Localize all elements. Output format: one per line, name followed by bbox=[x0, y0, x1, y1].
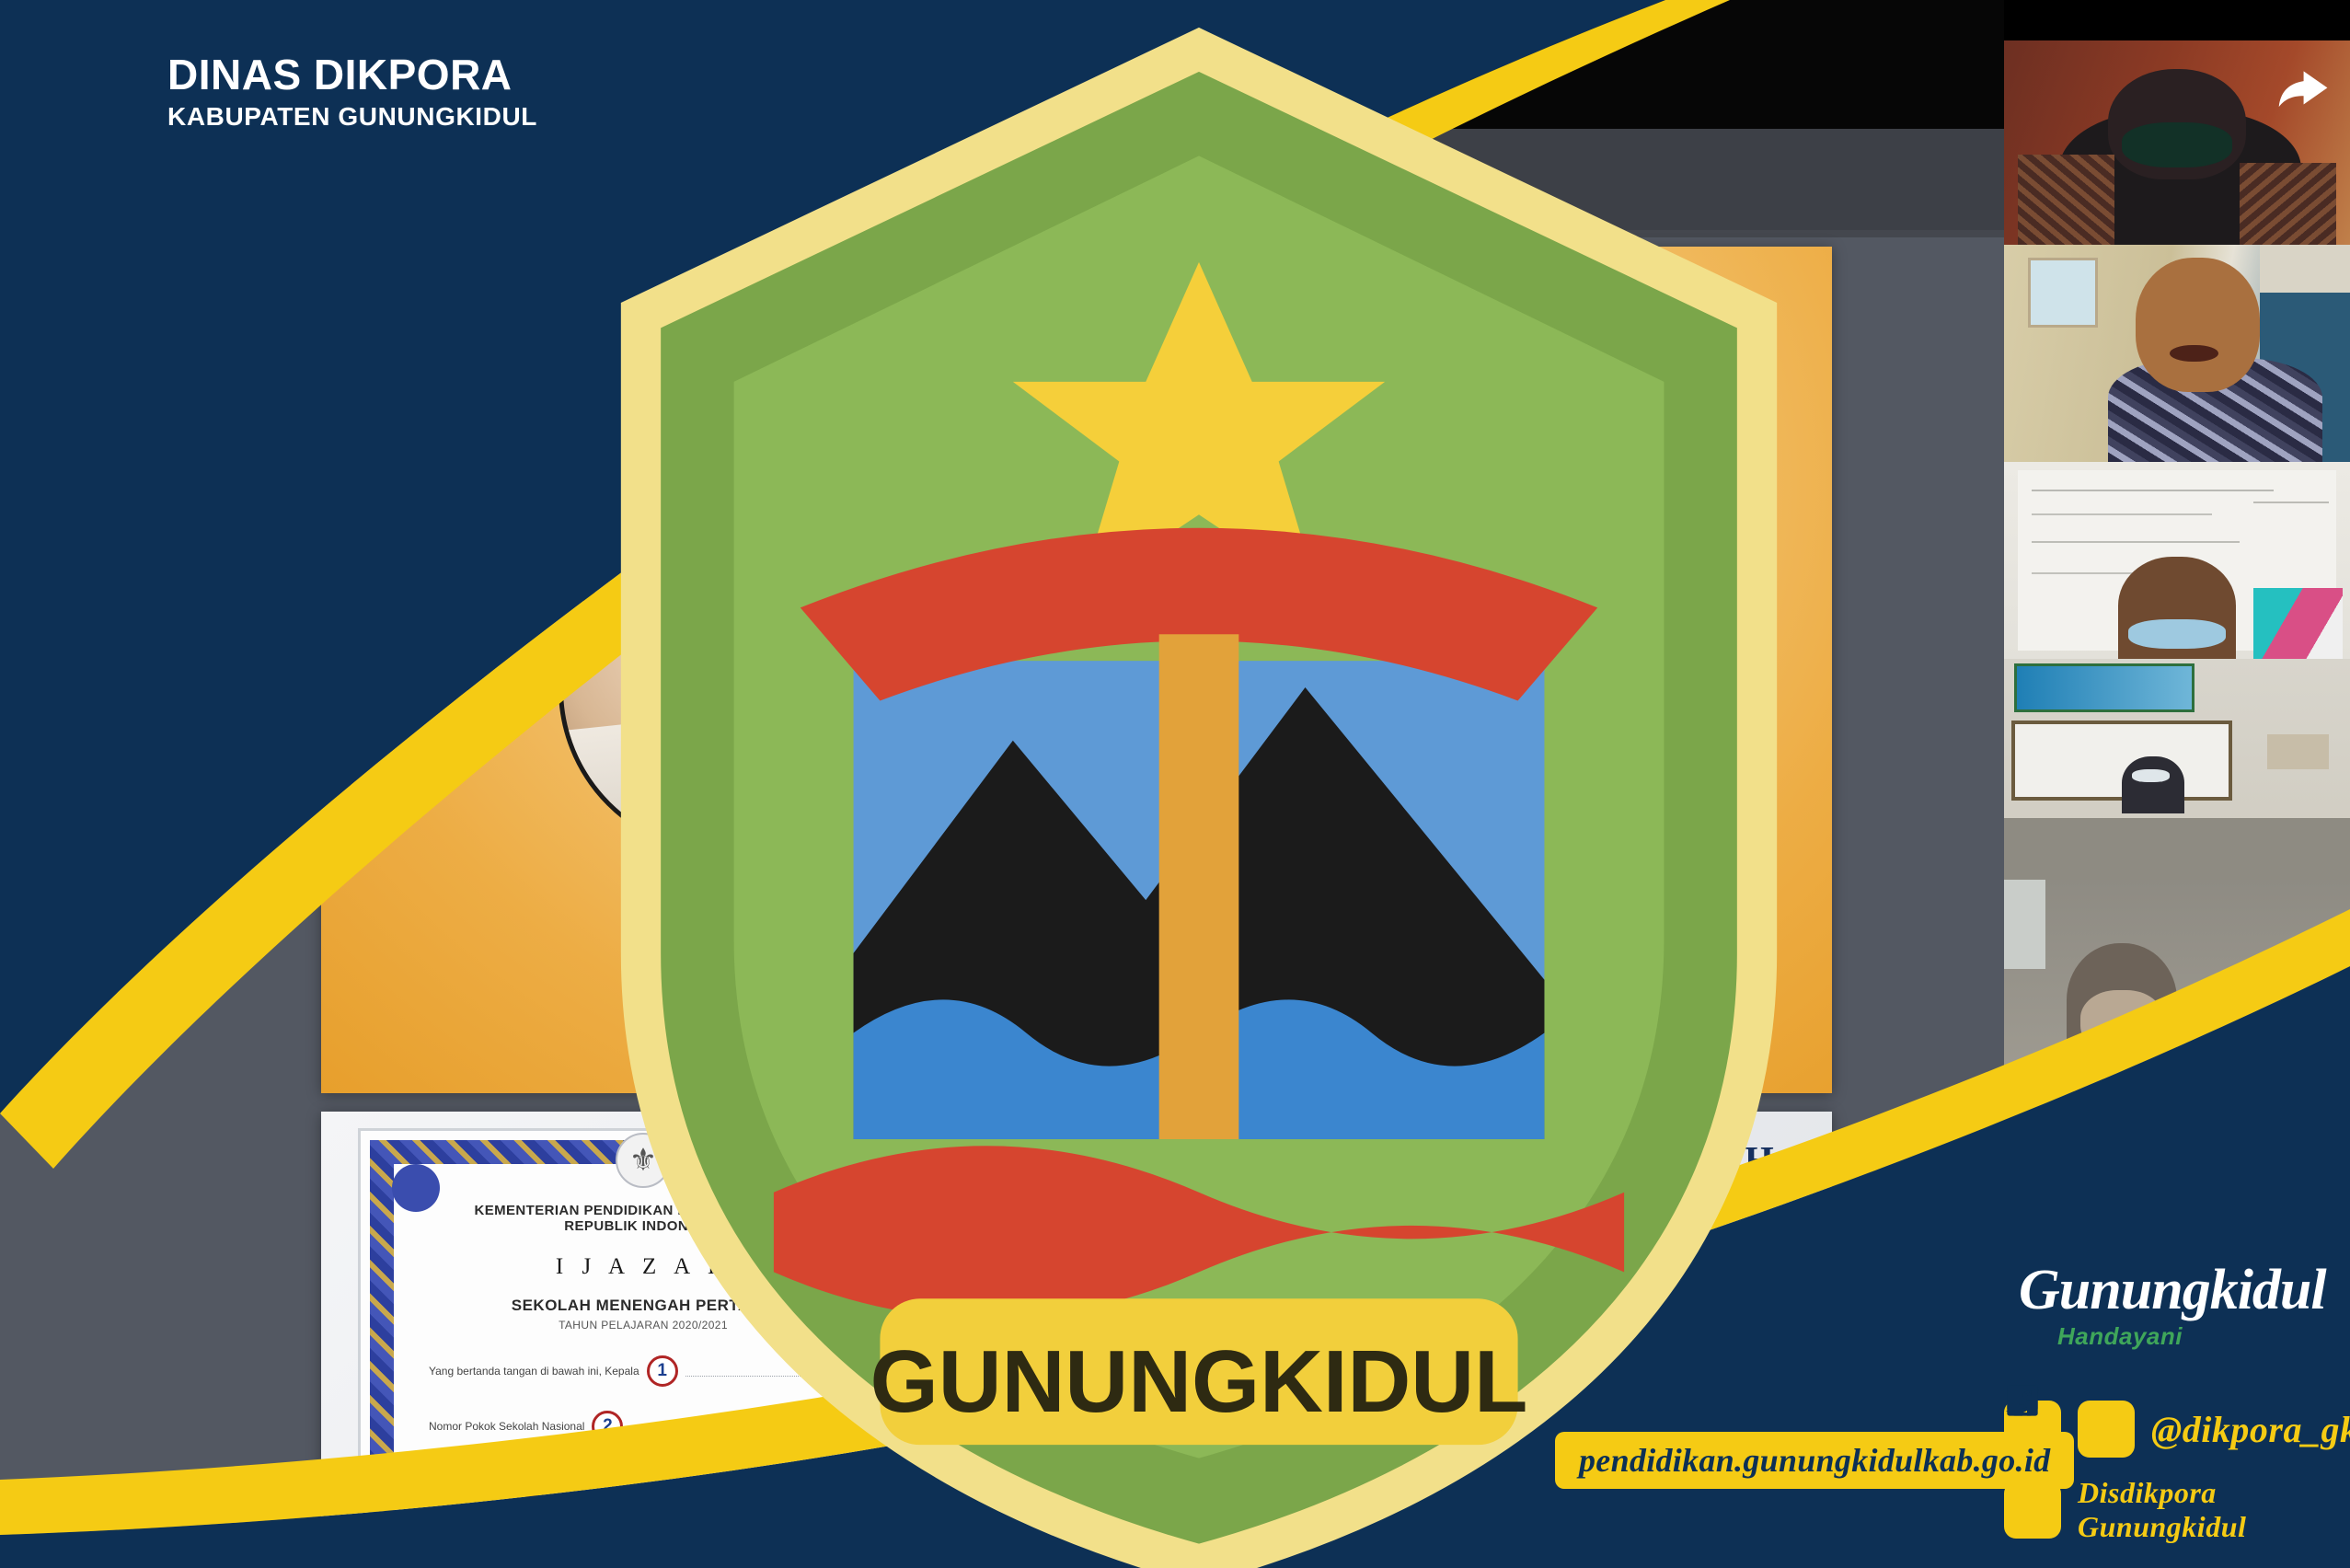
text-cursor bbox=[1692, 960, 1695, 1002]
fit-to-page-icon[interactable] bbox=[1013, 164, 1065, 212]
slide-title: PETUNJUK KHUSUS PENULISAN BLANGKO IJAZAH… bbox=[855, 578, 1793, 890]
toolbar-divider-1 bbox=[741, 170, 743, 205]
cert-field-label: Yang bertanda tangan di bawah ini, Kepal… bbox=[429, 1365, 639, 1378]
share-top-letterbox bbox=[0, 0, 2004, 136]
org-line-2: DIREKTORAT SEKOLAH MENENGAH PERTAMA bbox=[511, 320, 1203, 357]
pdf-page-13[interactable]: ⚜ KEMENTERIAN PENDIDIKAN DAN KEBUDAYAAN … bbox=[321, 1112, 1832, 1568]
cert-title: I J A Z A H bbox=[429, 1254, 858, 1280]
cert-field-row: Kabupaten/Kota 3 bbox=[429, 1466, 858, 1497]
screen-share-region: 12 / 55 − 100% + bbox=[0, 0, 2004, 1568]
cert-field-row: Provinsi 4 bbox=[429, 1521, 858, 1552]
rotate-icon[interactable] bbox=[1065, 164, 1116, 212]
participant-tile-5[interactable] bbox=[2004, 880, 2350, 1091]
participant-tile-4[interactable] bbox=[2004, 659, 2350, 880]
leader-arrow-icon bbox=[960, 1317, 1009, 1320]
screenshot-root: 12 / 55 − 100% + bbox=[0, 0, 2350, 1568]
tut-wuri-handayani-logo: 🕊 bbox=[378, 272, 487, 381]
org-website: ditsmp.kemdikbud.go.id bbox=[511, 362, 1203, 396]
cert-field-label: Provinsi bbox=[429, 1530, 468, 1543]
total-pages-label: 55 bbox=[688, 174, 717, 202]
slide-title-line-1: PETUNJUK KHUSUS bbox=[855, 578, 1793, 652]
slide-title-line-4: KURIKULUM 2006 bbox=[855, 811, 1793, 891]
slide-org-header: 🕊 KEMENTERIAN PENDIDIKAN DAN KEBUDAYAAN … bbox=[378, 272, 1203, 396]
slide2-list-item: 2 Nomor Pokok Sekolah Nasional (NPSN) bbox=[960, 1416, 1795, 1460]
zoom-in-button[interactable]: + bbox=[916, 164, 963, 212]
page-separator: / bbox=[673, 174, 680, 202]
slide-title-line-3: SEKOLAH MENENGAH PERTAMA bbox=[855, 727, 1793, 801]
cert-field-label: Kabupaten/Kota bbox=[429, 1475, 508, 1488]
page-number-input[interactable]: 12 bbox=[607, 170, 662, 206]
cert-field-label: Nomor Pokok Sekolah Nasional bbox=[429, 1420, 584, 1433]
ijazah-certificate-image: ⚜ KEMENTERIAN PENDIDIKAN DAN KEBUDAYAAN … bbox=[358, 1128, 928, 1568]
pdf-toolbar-shadow bbox=[0, 230, 2004, 237]
cert-header-2: REPUBLIK INDONESIA bbox=[429, 1218, 858, 1234]
item-number-badge: 3 bbox=[1026, 1483, 1066, 1524]
video-letterbox-bottom bbox=[2004, 1312, 2350, 1568]
participant-video-column bbox=[2004, 0, 2350, 1568]
garuda-emblem-icon: ⚜ bbox=[616, 1133, 671, 1188]
toolbar-divider-2 bbox=[987, 170, 989, 205]
item-text: Nama sekolah bersangkutan yang menerbitk… bbox=[1083, 1304, 1795, 1391]
item-text: Nomor Pokok Sekolah Nasional (NPSN) bbox=[1083, 1416, 1633, 1460]
cert-field-number: 4 bbox=[476, 1521, 507, 1552]
item-text: Nama nomenklatur kabupaten/kota*) (coret… bbox=[1083, 1483, 1795, 1568]
org-line-1: KEMENTERIAN PENDIDIKAN DAN KEBUDAYAAN bbox=[511, 283, 1203, 320]
cert-year: TAHUN PELAJARAN 2020/2021 bbox=[429, 1319, 858, 1332]
leader-arrow-icon bbox=[960, 1429, 1009, 1432]
participant-tile-3[interactable] bbox=[2004, 462, 2350, 659]
item-number-badge: 2 bbox=[1026, 1416, 1066, 1457]
leader-arrow-icon bbox=[960, 1496, 1009, 1499]
share-forward-arrow-icon[interactable] bbox=[2273, 66, 2330, 114]
item-number-badge: 1 bbox=[1026, 1304, 1066, 1344]
slide2-list-item: 1 Nama sekolah bersangkutan yang menerbi… bbox=[960, 1304, 1795, 1391]
video-letterbox-top bbox=[2004, 0, 2350, 40]
slide2-list-item: 3 Nama nomenklatur kabupaten/kota*) (cor… bbox=[960, 1483, 1795, 1568]
cert-level: SEKOLAH MENENGAH PERTAMA bbox=[429, 1297, 858, 1315]
cert-field-number: 3 bbox=[515, 1466, 547, 1497]
participant-tile-2[interactable] bbox=[2004, 245, 2350, 462]
pdf-toolbar: 12 / 55 − 100% + bbox=[607, 161, 1116, 214]
zoom-level-input[interactable]: 100% bbox=[820, 169, 910, 207]
zoom-out-button[interactable]: − bbox=[766, 164, 814, 212]
pdf-page-12[interactable]: 🕊 KEMENTERIAN PENDIDIKAN DAN KEBUDAYAAN … bbox=[321, 247, 1832, 1093]
cert-field-row: Yang bertanda tangan di bawah ini, Kepal… bbox=[429, 1355, 858, 1387]
slide2-title-line-1: TATA CARA PENGISIAN BLANGKO IJAZAH SMP bbox=[960, 1136, 1795, 1232]
hand-writing-photo bbox=[559, 523, 890, 854]
slide2-content: TATA CARA PENGISIAN BLANGKO IJAZAH SMP K… bbox=[928, 1112, 1832, 1568]
participant-tile-6[interactable] bbox=[2004, 1091, 2350, 1312]
pdf-pages: 🕊 KEMENTERIAN PENDIDIKAN DAN KEBUDAYAAN … bbox=[321, 247, 1832, 1568]
cert-field-number: 1 bbox=[647, 1355, 678, 1387]
slide-title-line-2: PENULISAN BLANGKO IJAZAH bbox=[855, 652, 1793, 727]
cert-header-1: KEMENTERIAN PENDIDIKAN DAN KEBUDAYAAN bbox=[429, 1203, 858, 1218]
slide2-title-line-2: KURIKULUM 2006 (HALAMAN DEPAN) bbox=[960, 1232, 1795, 1280]
cert-field-row: Nomor Pokok Sekolah Nasional 2 bbox=[429, 1411, 858, 1442]
participant-tile-1[interactable] bbox=[2004, 40, 2350, 245]
cert-field-number: 2 bbox=[592, 1411, 623, 1442]
